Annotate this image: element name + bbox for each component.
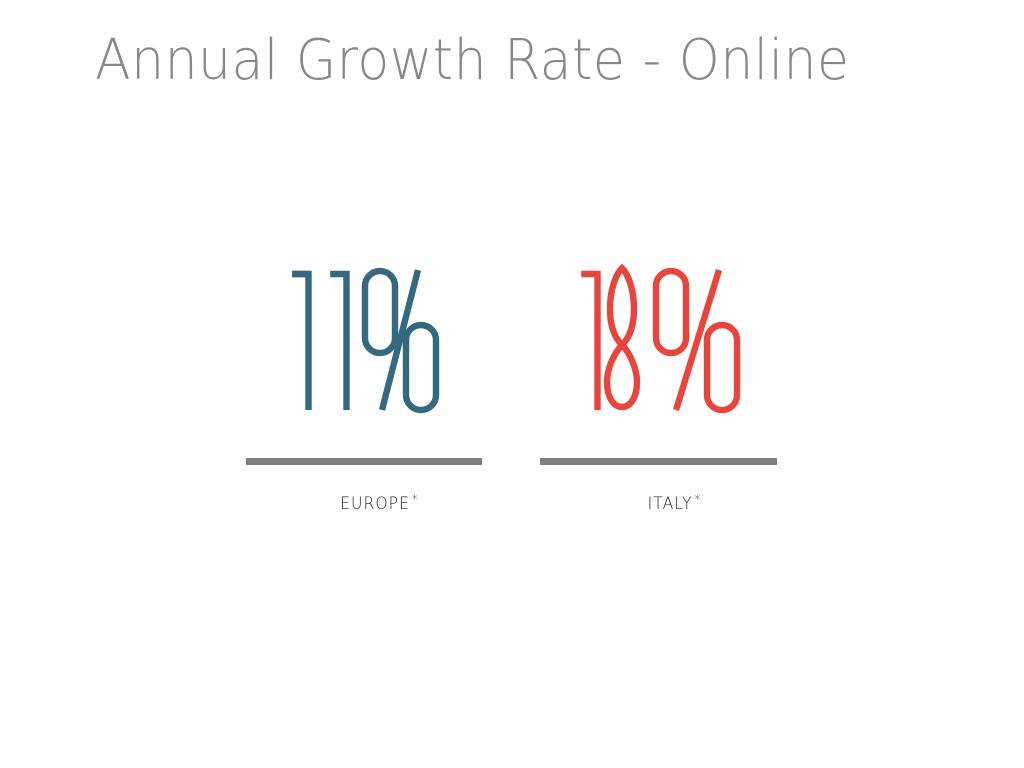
percent-glyph-18-icon [578, 265, 740, 410]
percent-glyph-11-icon [289, 265, 439, 410]
stat-label-europe-text: EUROPE [340, 494, 410, 514]
stat-value-italy [509, 265, 809, 425]
slide-canvas: Annual Growth Rate - Online [0, 0, 1024, 768]
footnote-marker-italy: * [694, 493, 700, 508]
stat-divider-europe [246, 458, 482, 465]
stat-label-europe: EUROPE* [255, 493, 503, 514]
stat-block-europe: EUROPE* [214, 265, 514, 514]
stat-block-italy: ITALY* [509, 265, 809, 514]
stat-divider-italy [540, 458, 777, 465]
stat-label-italy-text: ITALY [648, 494, 693, 514]
footnote-marker-europe: * [412, 493, 418, 508]
page-title: Annual Growth Rate - Online [95, 26, 876, 96]
stat-value-europe [214, 265, 514, 425]
stats-row: EUROPE* [0, 265, 1024, 545]
stat-label-italy: ITALY* [550, 493, 798, 514]
